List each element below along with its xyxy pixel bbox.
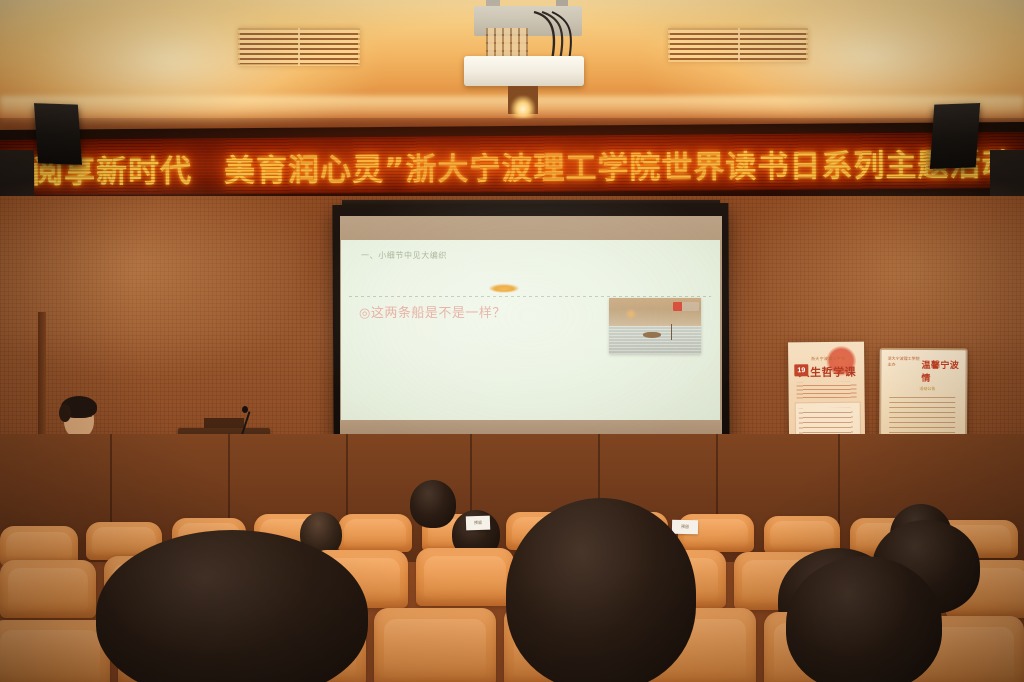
poster-left-badge: 19 xyxy=(794,364,808,376)
reserved-seat-card: 预留 xyxy=(672,520,698,534)
reserved-seat-card: 预留 xyxy=(466,516,490,531)
poster-right-subtitle: 活动公告 xyxy=(899,386,955,392)
wall-speaker-left xyxy=(34,103,82,165)
air-vent-icon-right xyxy=(668,28,808,62)
gooseneck-mic-head-icon xyxy=(242,406,248,413)
audience-head xyxy=(410,480,456,528)
photo-scene: “阅享新时代 美育润心灵”浙大宁波理工学院世界读书日系列主题活动 一、小细节中见… xyxy=(0,0,1024,682)
seat[interactable] xyxy=(0,560,96,618)
seat[interactable] xyxy=(338,514,412,552)
poster-right-title: 温馨宁波情 xyxy=(921,358,961,384)
downlight-icon xyxy=(511,96,535,118)
audience-head-foreground-center xyxy=(506,498,696,682)
projection-screen-glow xyxy=(300,190,760,470)
wall-speaker-right xyxy=(930,103,980,169)
seat[interactable] xyxy=(374,608,496,682)
glasses-icon xyxy=(66,416,92,422)
reserved-seat-card-text: 预留 xyxy=(466,520,490,527)
poster-left-subtitle: 浙大宁波理工学院 xyxy=(798,356,858,363)
seat[interactable] xyxy=(416,548,514,606)
seat[interactable] xyxy=(0,620,110,682)
air-vent-icon-left xyxy=(238,28,360,66)
reserved-seat-card-text: 预留 xyxy=(672,524,698,530)
poster-left-intro-lines xyxy=(796,382,856,399)
audience-head-foreground-right xyxy=(786,556,942,682)
ceiling-projector xyxy=(464,56,584,86)
poster-right-header-note: 浙大宁波理工学院主办 xyxy=(888,356,920,368)
